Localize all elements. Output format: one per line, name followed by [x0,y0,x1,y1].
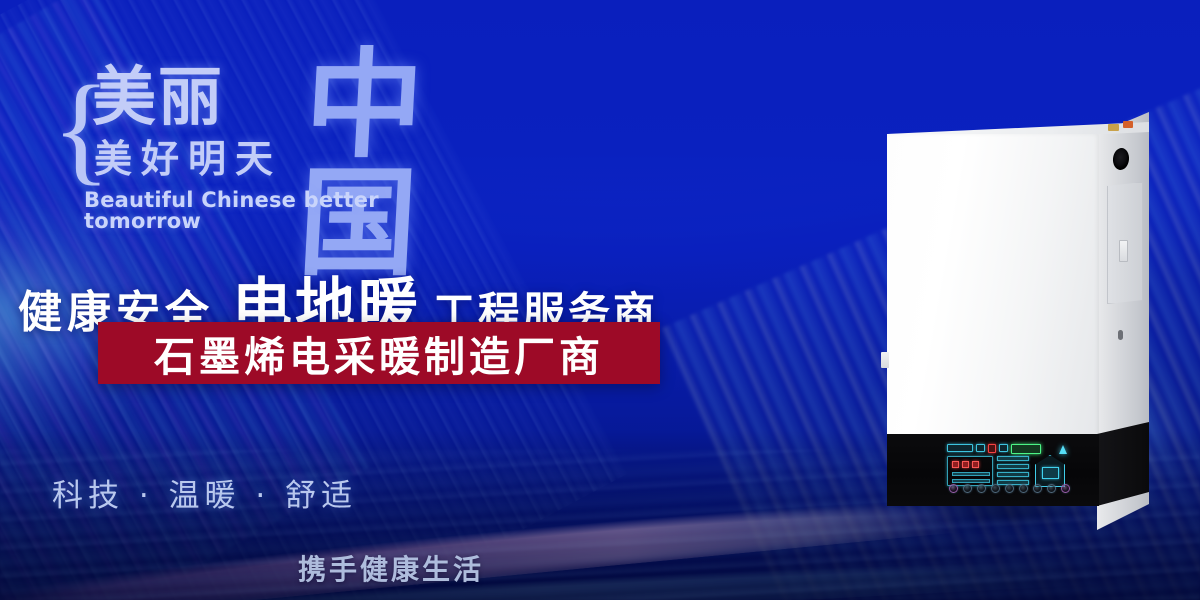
lcd-mid-bar-1-icon [997,456,1029,461]
lcd-alert-indicator-icon [988,444,996,453]
boiler-left-connector [881,352,889,368]
lcd-wifi-icon [1059,445,1067,454]
confirm-button[interactable] [1047,484,1056,493]
lcd-clock-icon [1011,444,1041,454]
logo-line-secondary: 美好明天 [94,140,282,178]
brand-logo: { 美丽 美好明天 中国 Beautiful Chinese better to… [52,52,482,222]
logo-calligraphy: 中国 [296,46,488,282]
red-highlight-banner: 石墨烯电采暖制造厂商 [98,322,660,384]
lcd-left-group [947,456,993,486]
tagline-secondary: 携手健康生活 [298,548,484,588]
lcd-house-group [1035,455,1065,487]
lcd-indicator-b-icon [999,444,1008,452]
timer-button[interactable] [1019,484,1028,493]
lcd-mid-bar-3-icon [997,472,1029,477]
control-button-row[interactable] [949,484,1070,493]
lcd-heater-stage-2-icon [962,461,969,468]
down-button[interactable] [991,484,1000,493]
power-button[interactable] [949,484,958,493]
control-fascia-side [1097,422,1149,506]
lcd-mid-bar-2-icon [997,464,1029,469]
lcd-left-bar-2-icon [952,479,990,483]
lcd-middle-group [997,456,1031,486]
lcd-mode-label-icon [947,444,973,452]
lcd-room-temp-icon [1042,467,1059,479]
red-banner-text: 石墨烯电采暖制造厂商 [154,323,604,383]
promotional-banner: { 美丽 美好明天 中国 Beautiful Chinese better to… [0,0,1200,600]
product-image-boiler [865,112,1165,532]
boiler-pipe-connector-b [1123,121,1133,128]
lcd-heater-stage-3-icon [972,461,979,468]
clock-button[interactable] [1005,484,1014,493]
reset-button[interactable] [1061,484,1070,493]
boiler-side-port [1118,330,1123,340]
lcd-heater-stage-1-icon [952,461,959,468]
logo-english-tagline: Beautiful Chinese better tomorrow [84,190,482,232]
up-button[interactable] [977,484,986,493]
lcd-heater-stage-row [952,461,979,468]
settings-button[interactable] [1033,484,1042,493]
lcd-indicator-a-icon [976,444,985,452]
boiler-side-switch [1119,240,1128,262]
logo-line-primary: 美丽 [92,66,224,130]
tagline-primary: 科技 · 温暖 · 舒适 [52,470,357,515]
lcd-status-row [947,444,1041,454]
boiler-pipe-connector-a [1108,124,1119,131]
lcd-left-bar-1-icon [952,472,990,476]
mode-button[interactable] [963,484,972,493]
